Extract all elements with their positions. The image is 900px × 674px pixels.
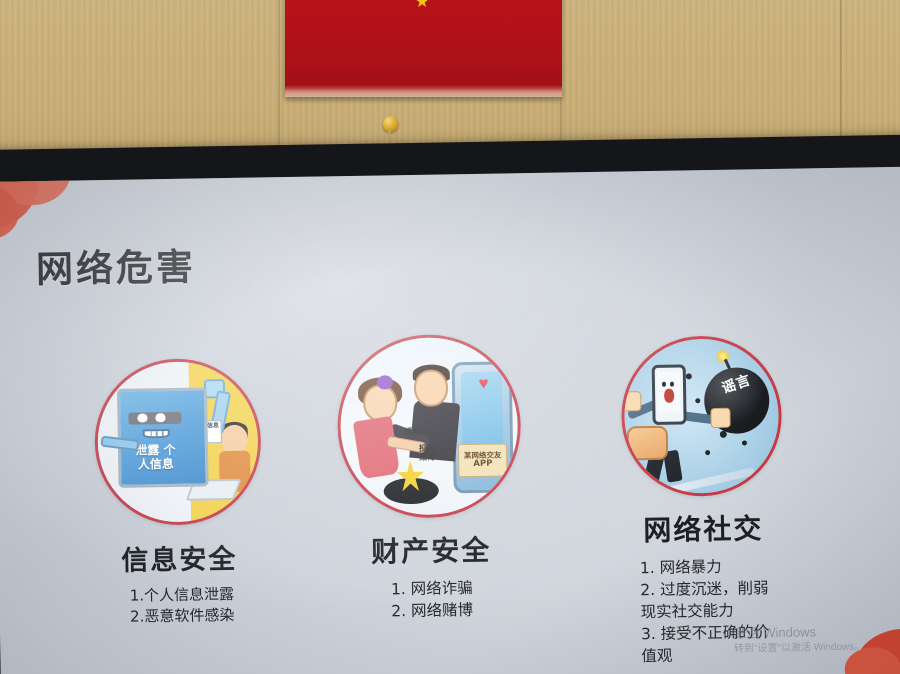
phone-screen: [657, 372, 681, 413]
dating-app-label: 某网络交友 APP: [458, 443, 507, 478]
giant-fist-icon: [626, 426, 668, 461]
phone-hand-left: [621, 391, 641, 411]
projection-screen-bezel: 网络危害 个人 信息: [0, 134, 900, 674]
screaming-phone-icon: [651, 364, 686, 425]
page-title: 网络危害: [35, 237, 196, 294]
list-item: 1. 网络诈骗: [391, 577, 473, 600]
list-item: 2. 过度沉迷，削弱 现实社交能力: [640, 577, 769, 623]
presentation-slide: 网络危害 个人 信息: [0, 167, 900, 674]
decor-blob-bottom-right: [834, 616, 900, 674]
list-item: 1.个人信息泄露: [130, 584, 235, 607]
decor-dot: [742, 440, 747, 445]
decor-dot: [695, 398, 700, 403]
phone-hand-right: [711, 408, 731, 428]
column-heading-information-security: 信息安全: [46, 536, 312, 579]
list-item: 3. 接受不正确的价 值观: [641, 621, 770, 667]
heart-icon: ♥: [478, 374, 488, 394]
column-property-security: 某网络交友 APP ♥: [295, 333, 565, 624]
decor-dot: [705, 450, 710, 455]
bullet-list-property-security: 1. 网络诈骗 2. 网络赌博: [391, 577, 473, 622]
chinese-flag-panel: ★: [285, 0, 562, 97]
monitor-thief-body: 泄露 个人信息: [117, 387, 208, 488]
decor-dot: [685, 373, 691, 379]
column-online-social: 谣言: [555, 334, 850, 669]
dating-app-label-line2: APP: [473, 460, 492, 469]
victim-head: [363, 384, 397, 422]
bullet-list-information-security: 1.个人信息泄露 2.恶意软件感染: [130, 584, 235, 628]
illustration-information-security: 个人 信息 泄露 个人信息: [93, 358, 262, 527]
illustration-property-security: 某网络交友 APP ♥: [336, 333, 522, 519]
column-heading-online-social: 网络社交: [558, 506, 849, 551]
phone-mouth: [664, 388, 674, 403]
phone-eye-left: [662, 382, 666, 387]
decor-blob-top-left: [0, 167, 82, 245]
list-item: 2. 网络赌博: [391, 599, 473, 622]
thief-eye-right: [156, 413, 166, 422]
list-item: 2.恶意软件感染: [130, 605, 235, 628]
thief-eye-left: [137, 414, 147, 423]
leak-caption: 泄露 个人信息: [133, 444, 179, 472]
thief-mouth: [143, 429, 170, 439]
illustration-online-social: 谣言: [620, 335, 783, 498]
scammer-head: [414, 369, 448, 407]
child-head: [220, 425, 248, 454]
projection-room-scene: ★ 网络危害: [0, 0, 900, 674]
lure-label: 诱骗: [404, 426, 420, 435]
list-item: 1. 网络暴力: [640, 555, 769, 579]
invest-gamble-label: 投资 赌博: [419, 444, 435, 463]
bullet-list-online-social: 1. 网络暴力 2. 过度沉迷，削弱 现实社交能力 3. 接受不正确的价 值观: [640, 555, 770, 667]
column-heading-property-security: 财产安全: [298, 527, 564, 571]
phone-eye-right: [670, 382, 674, 387]
column-information-security: 个人 信息 泄露 个人信息 信息安全: [44, 357, 313, 630]
